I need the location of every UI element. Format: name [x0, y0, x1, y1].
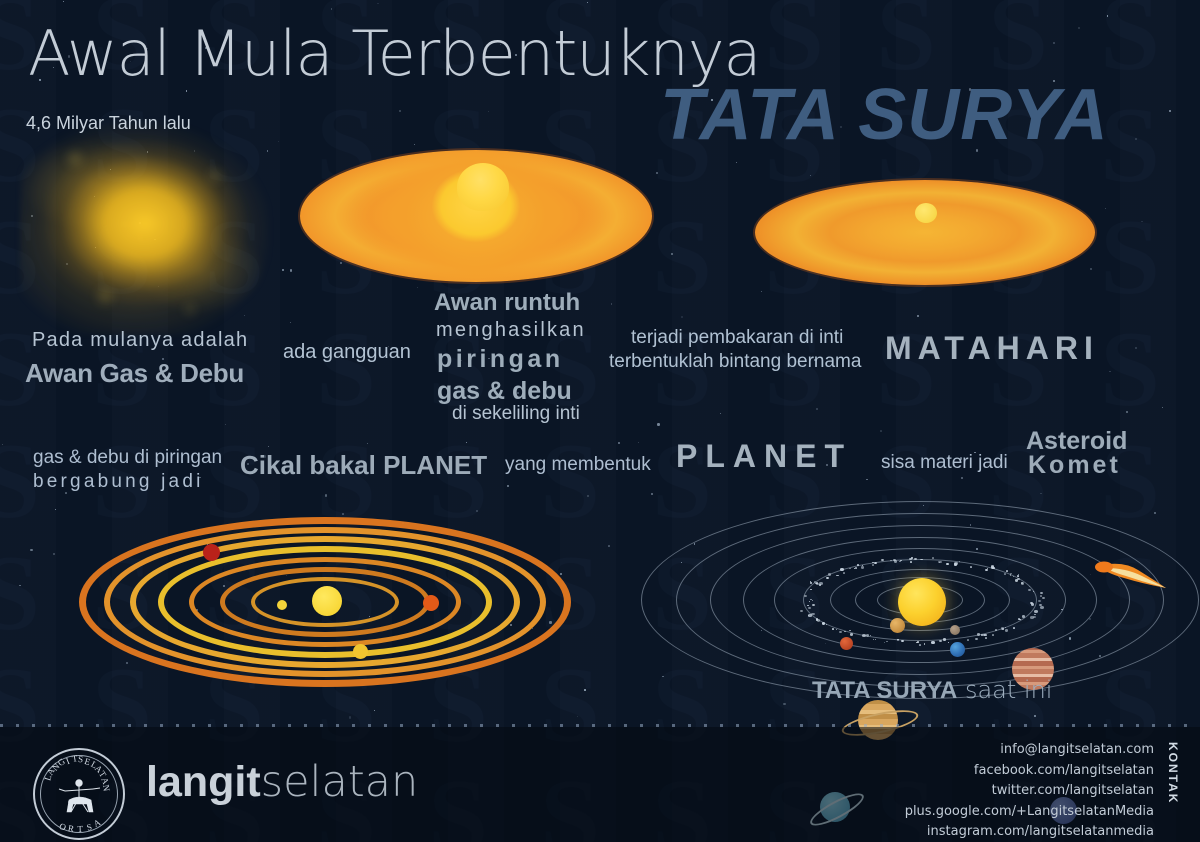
star: [374, 710, 375, 711]
star: [399, 110, 401, 112]
asteroid: [828, 573, 831, 576]
star: [611, 303, 613, 305]
star: [1090, 268, 1092, 270]
asteroid: [899, 561, 900, 562]
comet: [1092, 558, 1172, 592]
star: [1135, 138, 1137, 140]
brand-light: selatan: [261, 757, 419, 807]
sun-body: [898, 578, 946, 626]
asteroid: [921, 559, 923, 561]
star: [1169, 110, 1171, 112]
protostar-core-1: [457, 163, 509, 211]
asteroid: [836, 575, 838, 577]
star: [476, 510, 478, 512]
asteroid: [849, 568, 851, 569]
star: [282, 269, 284, 271]
watermark-letter: S: [1100, 204, 1160, 312]
star: [657, 423, 659, 425]
star: [488, 111, 489, 112]
solar-system-diagram: [640, 500, 1200, 700]
forming-central-star: [312, 586, 342, 616]
asteroid: [987, 568, 988, 569]
headline-tata-surya: TATA SURYA: [660, 78, 1109, 153]
star: [507, 485, 509, 487]
contact-instagram[interactable]: instagram.com/langitselatanmedia: [905, 822, 1154, 842]
asteroid: [931, 641, 935, 644]
asteroid: [1017, 575, 1019, 577]
asteroid: [804, 595, 807, 597]
star: [1109, 371, 1111, 373]
star: [638, 442, 639, 443]
asteroid: [881, 559, 884, 561]
asteroid: [1040, 606, 1044, 609]
star: [417, 287, 418, 288]
asteroid: [1018, 618, 1020, 620]
star: [1135, 347, 1137, 349]
asteroid: [1028, 589, 1031, 592]
star: [577, 716, 579, 718]
protoplanetary-disk-2: [755, 180, 1095, 285]
asteroid: [1033, 616, 1036, 619]
asteroid: [1040, 592, 1043, 594]
asteroid: [943, 638, 946, 640]
star: [866, 479, 868, 481]
star: [810, 175, 811, 176]
asteroid: [901, 640, 904, 642]
star: [466, 442, 468, 444]
asteroid: [855, 567, 857, 569]
star: [367, 443, 368, 444]
asteroid: [991, 565, 995, 568]
solar-system-label: TATA SURYA saat ini: [812, 678, 1052, 704]
star: [1141, 221, 1143, 223]
watermark-letter: S: [428, 428, 488, 536]
asteroid: [893, 559, 895, 561]
asteroid: [1034, 610, 1037, 613]
asteroid: [812, 600, 813, 601]
brand-bold: langit: [146, 758, 261, 806]
star: [917, 315, 919, 317]
watermark-letter: S: [1100, 0, 1160, 88]
asteroid: [924, 643, 926, 644]
asteroid: [822, 622, 825, 625]
star: [19, 585, 21, 587]
solar-system-label-bold: TATA SURYA: [812, 677, 957, 704]
star: [290, 269, 292, 271]
asteroid: [808, 607, 811, 609]
asteroid: [861, 566, 864, 569]
asteroid: [939, 640, 942, 642]
star: [414, 144, 415, 145]
kontak-label: KONTAK: [1164, 742, 1180, 804]
gas-dust-cloud-speckle: [20, 120, 270, 335]
asteroid: [810, 599, 812, 600]
stage5-label: Cikal bakal PLANET: [240, 452, 487, 479]
stage4-line2: terbentuklah bintang bernama: [609, 352, 861, 372]
stage5-line1: gas & debu di piringan: [33, 448, 222, 468]
stage7-caption: sisa materi jadi: [881, 453, 1008, 473]
stage1-caption-bold: Awan Gas & Debu: [25, 360, 244, 387]
asteroid: [849, 630, 851, 631]
asteroid: [843, 572, 845, 574]
asteroid: [1021, 582, 1023, 584]
asteroid: [932, 557, 934, 559]
star: [65, 492, 67, 494]
star: [587, 2, 588, 3]
page-title: Awal Mula Terbentuknya: [28, 22, 761, 86]
asteroid: [1038, 600, 1041, 602]
asteroid: [1033, 591, 1034, 592]
star: [656, 172, 658, 174]
asteroid: [832, 628, 834, 630]
star: [225, 424, 226, 425]
asteroid: [992, 634, 994, 636]
stage7-label-komet: Komet: [1028, 452, 1121, 478]
star: [278, 141, 279, 142]
star: [1162, 407, 1163, 408]
star: [736, 162, 737, 163]
asteroid: [1042, 597, 1045, 599]
asteroid: [975, 638, 978, 640]
star: [342, 513, 344, 515]
asteroid: [1010, 574, 1012, 575]
asteroid: [985, 637, 987, 639]
star: [608, 545, 610, 547]
asteroid: [826, 577, 829, 580]
asteroid: [862, 634, 866, 637]
asteroid: [800, 610, 803, 612]
asteroid: [857, 564, 859, 566]
stage3-line5: di sekeliling inti: [452, 404, 580, 424]
asteroid: [914, 558, 916, 560]
star: [761, 291, 762, 292]
centaur-icon: [35, 750, 123, 838]
logo-badge: LANGITSELATANASTRO: [33, 748, 125, 840]
protoplanet-yellow: [353, 644, 368, 659]
star: [1040, 493, 1041, 494]
stage3-line1: Awan runtuh: [434, 291, 580, 316]
solar-system-label-light: saat ini: [957, 676, 1052, 704]
star: [1078, 27, 1080, 29]
star: [1105, 208, 1106, 209]
asteroid: [854, 568, 855, 569]
asteroid: [875, 639, 876, 640]
planet-venus: [890, 618, 905, 633]
asteroid: [1005, 629, 1008, 632]
star: [584, 689, 585, 690]
star: [618, 442, 620, 444]
asteroid: [1034, 614, 1036, 615]
star: [587, 495, 589, 497]
watermark-letter: S: [1100, 92, 1160, 200]
watermark-letter: S: [540, 428, 600, 536]
stage3-line4: gas & debu: [437, 378, 572, 404]
stage6-caption: yang membentuk: [505, 455, 651, 475]
asteroid: [817, 619, 820, 621]
asteroid: [909, 558, 912, 560]
asteroid: [872, 564, 874, 566]
asteroid: [959, 561, 960, 562]
star: [290, 322, 291, 323]
asteroid: [870, 635, 871, 636]
subtitle-years: 4,6 Milyar Tahun lalu: [26, 114, 191, 133]
asteroid: [946, 563, 948, 565]
asteroid: [836, 629, 837, 630]
star: [1126, 411, 1128, 413]
asteroid: [819, 582, 823, 585]
protoplanet-inner: [277, 600, 287, 610]
star: [880, 430, 882, 432]
asteroid: [985, 634, 988, 636]
asteroid: [812, 604, 815, 607]
asteroid: [850, 633, 853, 636]
star: [651, 493, 653, 495]
star: [2, 444, 3, 445]
star: [783, 703, 785, 705]
asteroid: [917, 641, 919, 643]
stage5-line2: bergabung jadi: [33, 472, 204, 492]
asteroid: [1039, 604, 1042, 606]
asteroid: [985, 569, 988, 571]
asteroid: [844, 631, 846, 633]
asteroid: [1004, 573, 1006, 575]
planet-earth: [950, 642, 965, 657]
stage1-caption-top: Pada mulanya adalah: [32, 330, 248, 351]
asteroid: [839, 631, 842, 633]
asteroid: [954, 562, 958, 565]
asteroid: [826, 624, 827, 625]
planet-mercury: [950, 625, 960, 635]
stage3-line2: menghasilkan: [436, 320, 586, 341]
asteroid: [840, 568, 843, 571]
asteroid: [814, 581, 816, 582]
star: [55, 509, 57, 511]
forming-planet-system: [85, 522, 565, 682]
stage4-line1: terjadi pembakaran di inti: [631, 328, 843, 348]
protoplanet-orange: [423, 595, 439, 611]
star: [63, 1, 64, 2]
star: [1107, 15, 1109, 17]
star: [681, 316, 683, 318]
asteroid: [811, 613, 814, 616]
stage6-label-planet: PLANET: [676, 440, 852, 473]
watermark-letter: S: [1100, 316, 1160, 424]
stage3-line3: piringan: [437, 346, 564, 372]
protoplanet-red: [203, 544, 220, 561]
contact-list: info@langitselatan.com facebook.com/lang…: [905, 740, 1154, 842]
asteroid: [977, 633, 980, 635]
asteroid: [1022, 615, 1025, 617]
planet-mars: [840, 637, 853, 650]
star: [377, 3, 378, 4]
asteroid: [1013, 576, 1014, 577]
stage4-label-matahari: MATAHARI: [885, 332, 1099, 365]
star: [268, 446, 269, 447]
asteroid: [919, 644, 922, 646]
star: [325, 494, 327, 496]
star: [671, 253, 673, 255]
star: [961, 477, 963, 479]
watermark-letter: S: [652, 204, 712, 312]
star: [53, 553, 55, 555]
star: [720, 413, 721, 414]
asteroid: [967, 639, 970, 641]
asteroid: [807, 605, 809, 607]
watermark-letter: S: [316, 316, 376, 424]
star: [349, 716, 351, 718]
asteroid: [948, 642, 950, 643]
asteroid: [890, 560, 892, 562]
asteroid: [970, 566, 972, 568]
star: [186, 90, 188, 92]
star: [1034, 715, 1036, 717]
star: [816, 408, 818, 410]
infographic-poster: SSSSSSSSSSSSSSSSSSSSSSSSSSSSSSSSSSSSSSSS…: [0, 0, 1200, 842]
asteroid: [886, 641, 888, 642]
young-star-core: [915, 203, 937, 223]
asteroid: [1005, 627, 1006, 628]
watermark-letter: S: [0, 540, 40, 648]
asteroid: [809, 601, 810, 602]
star: [1053, 42, 1055, 44]
stage2-caption: ada gangguan: [283, 342, 411, 363]
asteroid: [1006, 570, 1008, 572]
asteroid: [938, 561, 941, 564]
star: [331, 8, 333, 10]
asteroid: [995, 629, 997, 631]
star: [340, 262, 341, 263]
asteroid: [1013, 627, 1015, 629]
brand-wordmark: langitselatan: [146, 757, 418, 807]
asteroid: [910, 561, 912, 563]
contact-email[interactable]: info@langitselatan.com: [905, 740, 1154, 761]
contact-twitter[interactable]: twitter.com/langitselatan: [905, 781, 1154, 802]
asteroid: [874, 562, 877, 565]
contact-googleplus[interactable]: plus.google.com/+LangitselatanMedia: [905, 802, 1154, 823]
star: [30, 549, 32, 551]
asteroid: [810, 589, 812, 591]
asteroid: [1001, 627, 1004, 629]
asteroid: [866, 634, 869, 636]
contact-facebook[interactable]: facebook.com/langitselatan: [905, 761, 1154, 782]
